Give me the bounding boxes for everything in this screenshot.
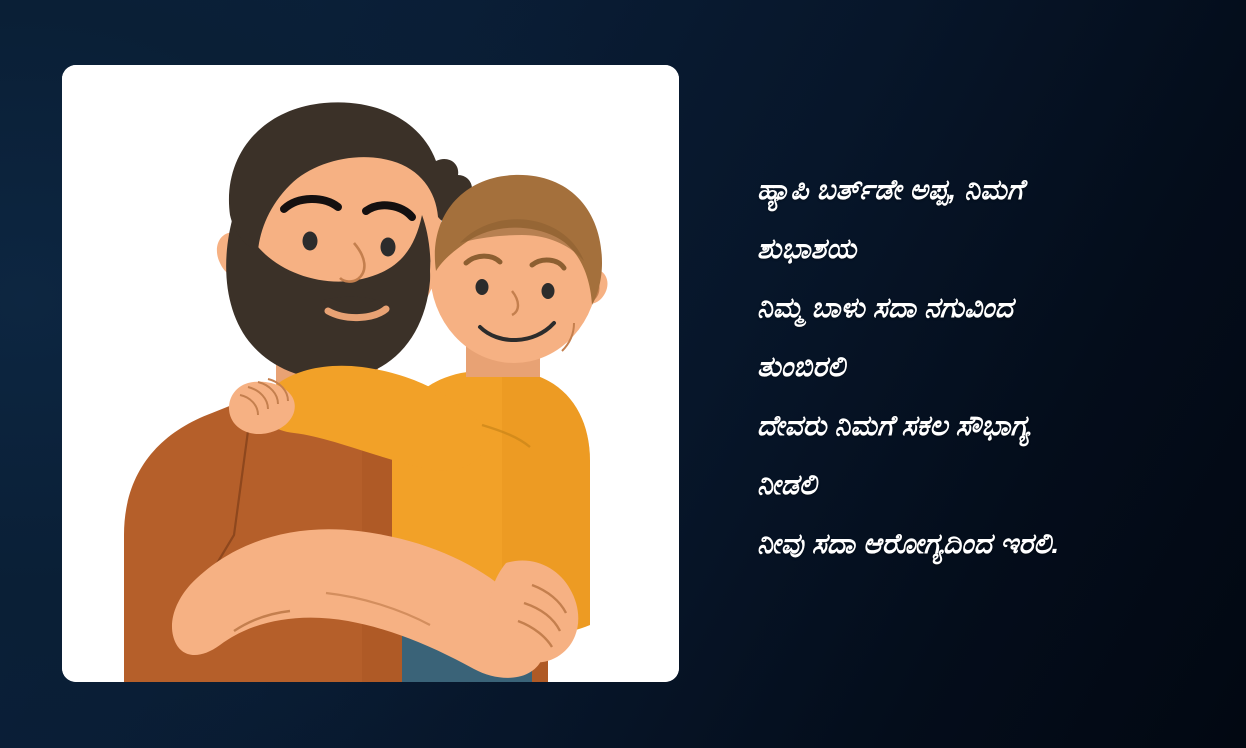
father-eye-right xyxy=(381,238,396,257)
father-son-hug-illustration xyxy=(62,65,679,682)
greeting-line-6: ನೀಡಲಿ xyxy=(757,455,1197,514)
father-eye-left xyxy=(303,232,318,251)
greeting-line-3: ನಿಮ್ಮ ಬಾಳು ಸದಾ ನಗುವಿಂದ xyxy=(757,278,1197,337)
greeting-line-4: ತುಂಬಿರಲಿ xyxy=(757,337,1197,396)
greeting-line-2: ಶುಭಾಶಯ xyxy=(757,219,1197,278)
greeting-text-block: ಹ್ಯಾಪಿ ಬರ್ತ್‌ಡೇ ಅಪ್ಪ, ನಿಮಗೆ ಶುಭಾಶಯ ನಿಮ್ಮ… xyxy=(757,160,1197,573)
son-eye-left xyxy=(476,279,489,295)
greeting-line-7: ನೀವು ಸದಾ ಆರೋಗ್ಯದಿಂದ ಇರಲಿ. xyxy=(757,514,1197,573)
illustration-card xyxy=(62,65,679,682)
greeting-canvas: ಹ್ಯಾಪಿ ಬರ್ತ್‌ಡೇ ಅಪ್ಪ, ನಿಮಗೆ ಶುಭಾಶಯ ನಿಮ್ಮ… xyxy=(0,0,1246,748)
son-eye-right xyxy=(542,283,555,299)
greeting-line-1: ಹ್ಯಾಪಿ ಬರ್ತ್‌ಡೇ ಅಪ್ಪ, ನಿಮಗೆ xyxy=(757,160,1197,219)
greeting-line-5: ದೇವರು ನಿಮಗೆ ಸಕಲ ಸೌಭಾಗ್ಯ xyxy=(757,396,1197,455)
